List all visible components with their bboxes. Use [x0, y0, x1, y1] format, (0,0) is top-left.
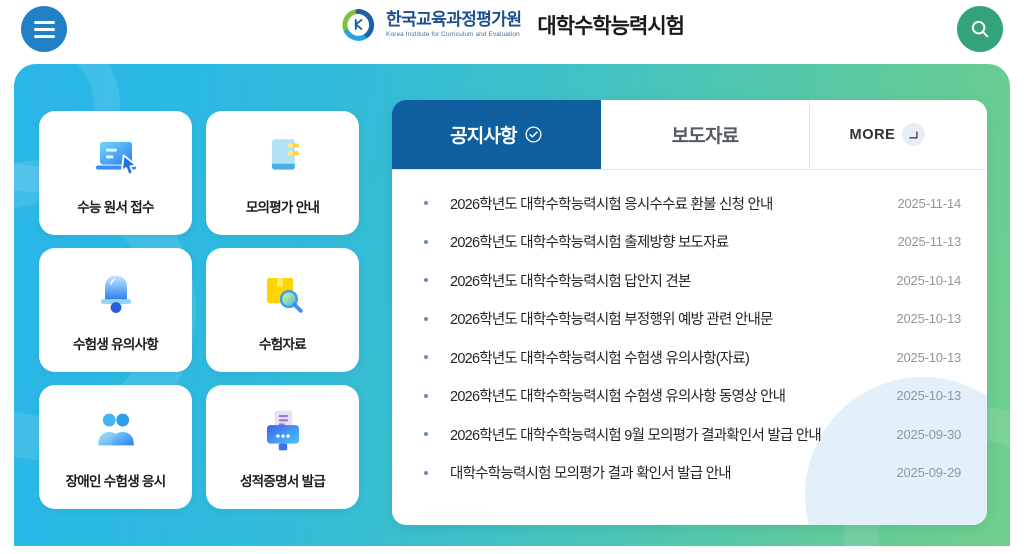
bullet-icon [424, 278, 428, 282]
quick-menu-item-exam-application[interactable]: 수능 원서 접수 [39, 111, 192, 235]
tab-press-releases[interactable]: 보도자료 [601, 100, 810, 169]
quick-menu-label: 모의평가 안내 [246, 196, 319, 216]
kice-logo-icon [340, 7, 376, 43]
notice-date: 2025-09-30 [897, 427, 962, 442]
notice-date: 2025-09-29 [897, 465, 962, 480]
bullet-icon [424, 471, 428, 475]
notice-title: 2026학년도 대학수학능력시험 9월 모의평가 결과확인서 발급 안내 [450, 424, 883, 445]
notice-row[interactable]: 2026학년도 대학수학능력시험 수험생 유의사항(자료) 2025-10-13 [424, 338, 961, 377]
quick-menu-label: 수험자료 [259, 333, 306, 353]
bullet-icon [424, 317, 428, 321]
notice-title: 2026학년도 대학수학능력시험 응시수수료 환불 신청 안내 [450, 193, 883, 214]
site-header: 한국교육과정평가원 Korea Institute for Curriculum… [0, 0, 1024, 56]
quick-menu-label: 성적증명서 발급 [240, 470, 325, 490]
more-button-label: MORE [850, 127, 896, 143]
board-tab-bar: 공지사항 보도자료 MORE [392, 100, 987, 170]
hamburger-icon-bar [34, 28, 55, 31]
quick-menu-label: 수능 원서 접수 [77, 196, 153, 216]
org-name-ko: 한국교육과정평가원 [386, 11, 521, 30]
brand-lockup[interactable]: 한국교육과정평가원 Korea Institute for Curriculum… [340, 7, 684, 43]
notice-row[interactable]: 2026학년도 대학수학능력시험 수험생 유의사항 동영상 안내 2025-10… [424, 377, 961, 416]
page-root: 한국교육과정평가원 Korea Institute for Curriculum… [0, 0, 1024, 554]
tab-press-releases-label: 보도자료 [672, 121, 739, 148]
org-name-block: 한국교육과정평가원 Korea Institute for Curriculum… [386, 11, 521, 39]
quick-menu-item-disabled-examinee[interactable]: 장애인 수험생 응시 [39, 385, 192, 509]
bullet-icon [424, 394, 428, 398]
notice-row[interactable]: 2026학년도 대학수학능력시험 출제방향 보도자료 2025-11-13 [424, 223, 961, 262]
quick-menu-item-exam-materials[interactable]: 수험자료 [206, 248, 359, 372]
notice-row[interactable]: 2026학년도 대학수학능력시험 부정행위 예방 관련 안내문 2025-10-… [424, 300, 961, 339]
more-button[interactable]: MORE [810, 100, 987, 169]
laptop-cursor-icon [89, 130, 143, 184]
notice-date: 2025-11-14 [897, 196, 961, 211]
notice-date: 2025-10-13 [897, 388, 962, 403]
notice-row[interactable]: 2026학년도 대학수학능력시험 답안지 견본 2025-10-14 [424, 261, 961, 300]
notice-date: 2025-11-13 [897, 234, 961, 249]
bullet-icon [424, 355, 428, 359]
notebook-icon [256, 130, 310, 184]
two-people-icon [89, 404, 143, 458]
notice-title: 2026학년도 대학수학능력시험 수험생 유의사항(자료) [450, 347, 883, 368]
notice-title: 2026학년도 대학수학능력시험 답안지 견본 [450, 270, 883, 291]
quick-menu-item-mock-exam-guide[interactable]: 모의평가 안내 [206, 111, 359, 235]
quick-menu-label: 장애인 수험생 응시 [66, 470, 166, 490]
quick-menu-label: 수험생 유의사항 [73, 333, 158, 353]
notice-title: 2026학년도 대학수학능력시험 수험생 유의사항 동영상 안내 [450, 385, 883, 406]
printer-icon [256, 404, 310, 458]
notice-title: 2026학년도 대학수학능력시험 부정행위 예방 관련 안내문 [450, 308, 883, 329]
org-name-en: Korea Institute for Curriculum and Evalu… [386, 31, 521, 39]
notice-list: 2026학년도 대학수학능력시험 응시수수료 환불 신청 안내 2025-11-… [392, 170, 987, 492]
hamburger-icon-bar [34, 21, 55, 24]
bell-icon [89, 267, 143, 321]
site-title: 대학수학능력시험 [537, 10, 684, 40]
box-magnifier-icon [256, 267, 310, 321]
search-icon [969, 18, 991, 40]
quick-menu-grid: 수능 원서 접수 모의평가 안내 [39, 111, 359, 509]
bullet-icon [424, 240, 428, 244]
tab-notices[interactable]: 공지사항 [392, 100, 601, 169]
diagonal-arrow-icon [902, 123, 925, 146]
search-button[interactable] [957, 6, 1003, 52]
check-circle-icon [524, 125, 543, 144]
notice-row[interactable]: 2026학년도 대학수학능력시험 9월 모의평가 결과확인서 발급 안내 202… [424, 415, 961, 454]
notice-date: 2025-10-13 [897, 311, 962, 326]
notice-board-panel: 공지사항 보도자료 MORE [392, 100, 987, 525]
hamburger-icon-bar [34, 35, 55, 38]
bullet-icon [424, 201, 428, 205]
hero-section: 수능 원서 접수 모의평가 안내 [14, 64, 1010, 546]
notice-title: 대학수학능력시험 모의평가 결과 확인서 발급 안내 [450, 462, 883, 483]
quick-menu-item-transcript-issue[interactable]: 성적증명서 발급 [206, 385, 359, 509]
hamburger-menu-button[interactable] [21, 6, 67, 52]
notice-title: 2026학년도 대학수학능력시험 출제방향 보도자료 [450, 231, 883, 252]
notice-date: 2025-10-14 [897, 273, 962, 288]
quick-menu-item-examinee-notice[interactable]: 수험생 유의사항 [39, 248, 192, 372]
bullet-icon [424, 432, 428, 436]
notice-row[interactable]: 2026학년도 대학수학능력시험 응시수수료 환불 신청 안내 2025-11-… [424, 184, 961, 223]
notice-row[interactable]: 대학수학능력시험 모의평가 결과 확인서 발급 안내 2025-09-29 [424, 454, 961, 493]
notice-date: 2025-10-13 [897, 350, 962, 365]
tab-notices-label: 공지사항 [450, 121, 517, 148]
